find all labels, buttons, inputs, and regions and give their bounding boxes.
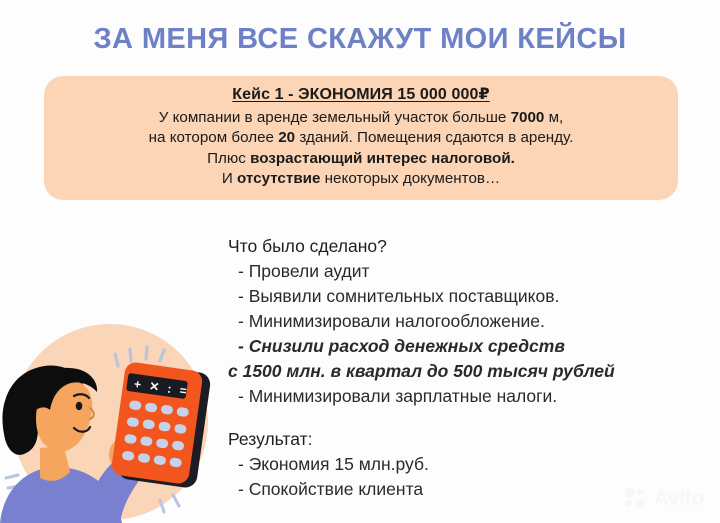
done-item: - Выявили сомнительных поставщиков. [228, 284, 698, 309]
case-text: И [222, 170, 237, 187]
person-eye [76, 402, 83, 410]
case-text: зданий. Помещения сдаются в аренду. [295, 129, 573, 146]
case-text-bold: 7000 [511, 109, 545, 126]
body-text-block: Что было сделано? - Провели аудит - Выяв… [228, 234, 698, 502]
case-text-bold: 20 [278, 129, 295, 146]
case-body-line-2: на котором более 20 зданий. Помещения сд… [44, 128, 678, 149]
avito-wordmark: Avito [654, 488, 704, 509]
case-body-line-3: Плюс возрастающий интерес налоговой. [44, 149, 678, 170]
case-body-line-1: У компании в аренде земельный участок бо… [44, 108, 678, 129]
case-text: У компании в аренде земельный участок бо… [159, 109, 511, 126]
done-item: - Минимизировали налогообложение. [228, 309, 698, 334]
calculator: + ✕ : = [110, 361, 211, 489]
done-item: с 1500 млн. в квартал до 500 тысяч рубле… [228, 359, 698, 384]
what-was-done-title: Что было сделано? [228, 234, 698, 259]
avito-logo-icon [623, 487, 649, 509]
case-text: Плюс [207, 150, 250, 167]
case-callout-box: Кейс 1 - ЭКОНОМИЯ 15 000 000₽ У компании… [44, 76, 678, 200]
case-heading: Кейс 1 - ЭКОНОМИЯ 15 000 000₽ [44, 85, 678, 106]
done-item: - Провели аудит [228, 259, 698, 284]
result-title: Результат: [228, 427, 698, 452]
section-spacer [228, 409, 698, 427]
case-text-bold: возрастающий интерес налоговой. [250, 150, 515, 167]
person-with-calculator-illustration: + ✕ : = [0, 322, 226, 523]
avito-watermark: Avito [623, 487, 704, 509]
page-title: ЗА МЕНЯ ВСЕ СКАЖУТ МОИ КЕЙСЫ [0, 22, 720, 56]
done-item: - Снизили расход денежных средств [228, 334, 698, 359]
case-text-bold: отсутствие [237, 170, 320, 187]
case-text: м, [544, 109, 563, 126]
case-body-line-4: И отсутствие некоторых документов… [44, 169, 678, 190]
case-text: на котором более [149, 129, 279, 146]
result-item: - Экономия 15 млн.руб. [228, 452, 698, 477]
done-item: - Минимизировали зарплатные налоги. [228, 384, 698, 409]
slide-canvas: ЗА МЕНЯ ВСЕ СКАЖУТ МОИ КЕЙСЫ Кейс 1 - ЭК… [0, 0, 720, 523]
case-text: некоторых документов… [320, 170, 500, 187]
